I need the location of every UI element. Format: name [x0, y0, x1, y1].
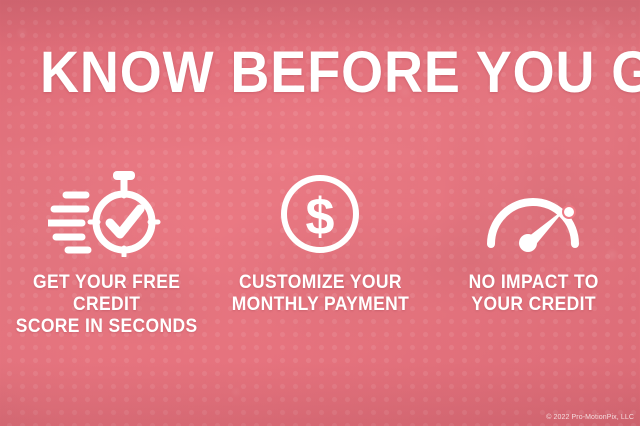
feature-list: GET YOUR FREE CREDIT SCORE IN SECONDS $ …: [0, 168, 640, 338]
feature-label: NO IMPACT TO YOUR CREDIT: [468, 272, 598, 316]
feature-label: GET YOUR FREE CREDIT SCORE IN SECONDS: [9, 272, 205, 338]
stopwatch-check-icon: [48, 168, 166, 260]
svg-text:$: $: [306, 188, 335, 246]
know-before-you-go-banner: KNOW BEFORE YOU GO™: [0, 0, 640, 426]
feature-item: NO IMPACT TO YOUR CREDIT: [427, 168, 640, 338]
headline: KNOW BEFORE YOU GO™: [40, 44, 640, 102]
feature-item: GET YOUR FREE CREDIT SCORE IN SECONDS: [0, 168, 213, 338]
dollar-circle-icon: $: [277, 168, 363, 260]
banner-content: KNOW BEFORE YOU GO™: [0, 0, 640, 426]
feature-item: $ CUSTOMIZE YOUR MONTHLY PAYMENT: [213, 168, 426, 338]
speedometer-gauge-icon: [477, 168, 589, 260]
feature-label: CUSTOMIZE YOUR MONTHLY PAYMENT: [231, 272, 408, 316]
headline-text: KNOW BEFORE YOU GO: [40, 40, 640, 105]
copyright-notice: © 2022 Pro-MotionPix, LLC: [546, 414, 634, 421]
